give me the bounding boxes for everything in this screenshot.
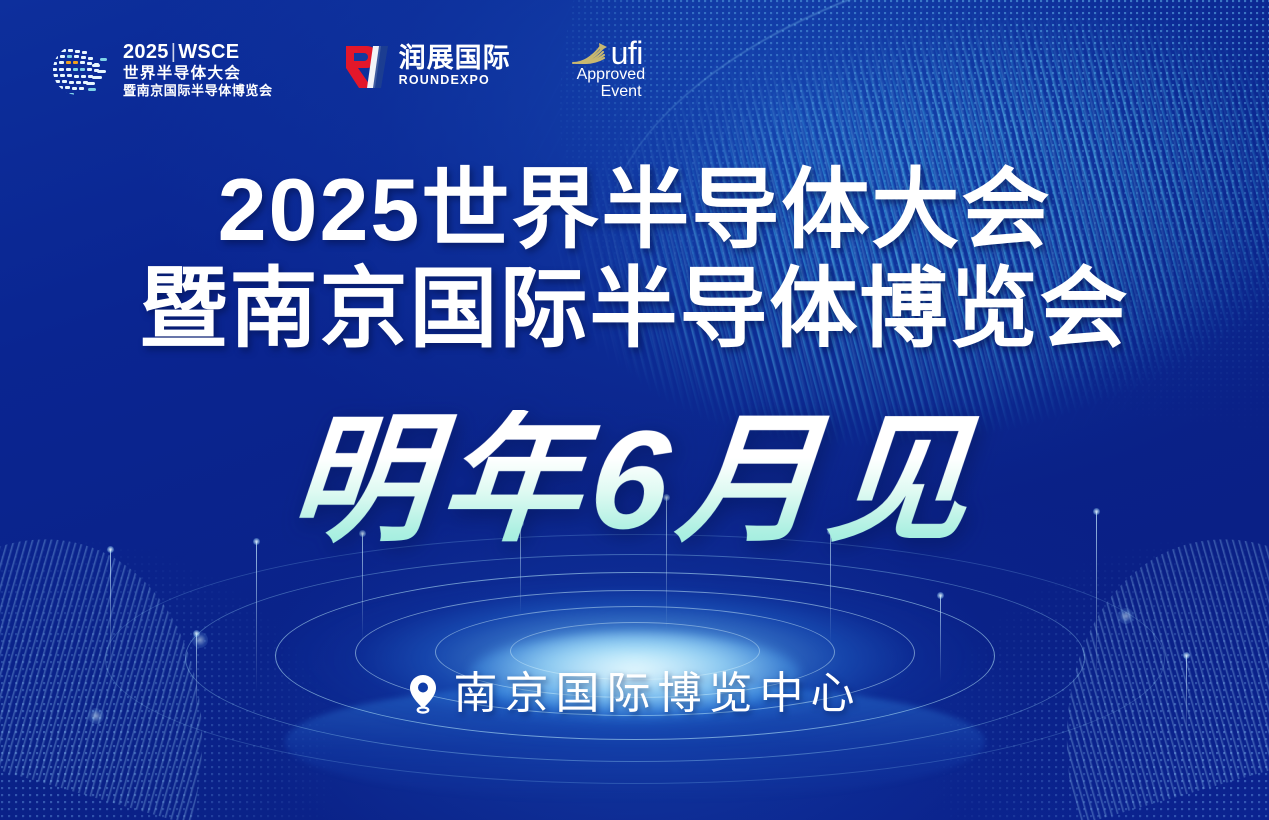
wsce-logo[interactable]: 2025|WSCE 世界半导体大会 暨南京国际半导体博览会 — [48, 38, 273, 102]
slogan-text: 明年6月见 — [284, 410, 984, 550]
venue-row: 南京国际博览中心 — [0, 672, 1269, 716]
ufi-logo-top: ufi — [571, 40, 643, 67]
logo-bar: 2025|WSCE 世界半导体大会 暨南京国际半导体博览会 润展国际 ROUND… — [48, 38, 645, 102]
slogan: 明年6月见 — [0, 410, 1269, 550]
headline-line-2: 暨南京国际半导体博览会 — [0, 259, 1269, 358]
ufi-approved-label: Approved — [577, 67, 646, 84]
location-pin-icon — [408, 674, 438, 714]
ufi-logo[interactable]: ufi Approved Event — [571, 40, 646, 101]
wsce-logo-text: 2025|WSCE 世界半导体大会 暨南京国际半导体博览会 — [123, 42, 273, 98]
ufi-wordmark: ufi — [611, 40, 643, 67]
wsce-divider: | — [171, 41, 177, 63]
roundexpo-logo[interactable]: 润展国际 ROUNDEXPO — [343, 44, 511, 90]
wsce-subtitle-cn: 世界半导体大会 — [123, 65, 273, 82]
roundexpo-name-cn: 润展国际 — [399, 45, 511, 72]
wsce-title-line: 2025|WSCE — [123, 42, 273, 63]
wsce-year: 2025 — [123, 41, 169, 63]
light-pin — [256, 542, 257, 692]
roundexpo-r-logo-icon — [343, 44, 391, 90]
platform-ring-2 — [185, 554, 1085, 762]
roundexpo-name-en: ROUNDEXPO — [399, 72, 511, 88]
platform-ring-1 — [105, 534, 1165, 784]
light-spark — [1118, 608, 1134, 624]
roundexpo-logo-text: 润展国际 ROUNDEXPO — [399, 45, 511, 88]
light-spark — [192, 632, 208, 648]
light-pin — [940, 596, 941, 682]
ufi-swoosh-icon — [571, 41, 609, 67]
light-pin — [110, 550, 111, 670]
wsce-subtitle-cn-2: 暨南京国际半导体博览会 — [123, 84, 273, 98]
ufi-event-label: Event — [601, 84, 642, 101]
poster-root: 2025|WSCE 世界半导体大会 暨南京国际半导体博览会 润展国际 ROUND… — [0, 0, 1269, 820]
headline-line-1: 2025世界半导体大会 — [0, 160, 1269, 259]
headline: 2025世界半导体大会 暨南京国际半导体博览会 — [0, 160, 1269, 359]
venue-name: 南京国际博览中心 — [454, 672, 862, 716]
wsce-abbr: WSCE — [178, 41, 239, 63]
wsce-globe-logo-icon — [48, 38, 112, 102]
